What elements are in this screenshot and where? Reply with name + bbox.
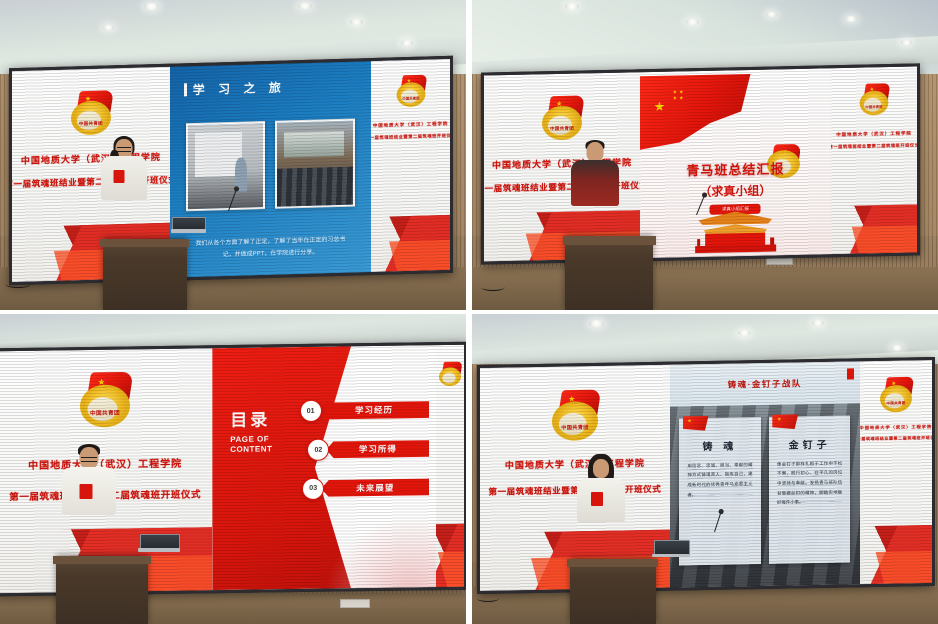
led-segment-slide-center: ★ ★★★★ ★ 青马班总结汇报 （求真小组） 求真小组汇报 (640, 68, 831, 258)
ceiling-downlight (103, 25, 114, 30)
banner-org-line: 中国地质大学（武汉）工程学院 (373, 121, 448, 129)
flag-icon: ★ (682, 415, 708, 430)
presenter-glasses (81, 457, 97, 462)
podium-top (100, 239, 189, 248)
led-segment-slide-center: 目录 PAGE OF CONTENT 01 学习经历 02 学习所得 (213, 345, 437, 590)
laptop-keyboard[interactable] (171, 229, 207, 233)
youth-league-emblem-icon: ★ 中国共青团 (858, 84, 890, 116)
ceiling-downlight (589, 320, 604, 327)
youth-league-emblem-icon: ★ 中国共青团 (549, 389, 600, 440)
toc-subtitle-line1: PAGE OF (231, 434, 270, 444)
slide-photo-meeting-room (276, 118, 356, 209)
led-segment-banner-right (436, 345, 464, 587)
toc-item-label: 未来展望 (322, 479, 430, 498)
banner-event-line: 第一届筑魂班结业暨第二届筑魂班开班仪式 (371, 132, 450, 141)
youth-league-emblem-icon: ★ 中国共青团 (878, 376, 913, 412)
tiananmen-gate-icon (692, 211, 780, 254)
slide-photo-classroom (186, 121, 266, 212)
team-card: ★ 金钉子 像金钉子那样扎根于工作中不松不懈，践行初心，在平凡的岗位中坚持与奉献… (769, 415, 850, 564)
led-segment-slide-center: 学 习 之 旅 我们从各个方面了解了正定，了解了当年在正定的习总书记，并做成PP… (170, 61, 371, 277)
toc-item-number: 02 (308, 439, 330, 461)
ceiling-downlight (350, 19, 363, 25)
panel-4-photo: ★ 中国共青团 中国地质大学（武汉）工程学院 第一届筑魂班结业暨第二届筑魂班开班… (472, 314, 938, 624)
presenter-head (593, 459, 609, 478)
podium-top (53, 556, 151, 564)
toc-item[interactable]: 03 未来展望 (303, 476, 430, 500)
banner-mountain-graphic (436, 524, 464, 587)
led-segment-slide-center: 铸魂·金钉子战队 ★ 铸 魂 用信念、忠诚、担当、奉献的精神方式铸魂育人、锻炼自… (670, 361, 860, 588)
laptop[interactable] (172, 217, 204, 233)
toc-title: 目录 (231, 405, 273, 431)
laptop[interactable] (654, 540, 688, 557)
wall-sign (340, 599, 370, 608)
flag-icon: ★ (772, 413, 798, 428)
card-title: 金钉子 (777, 435, 842, 451)
slide-card-row: ★ 铸 魂 用信念、忠诚、担当、奉献的精神方式铸魂育人、锻炼自己，建成新时代的优… (679, 415, 850, 565)
podium (570, 559, 656, 624)
banner-mountain-graphic (371, 215, 450, 272)
podium-top (563, 236, 656, 245)
slide-title-text: 学 习 之 旅 (193, 78, 286, 98)
banner-mountain-graphic (831, 204, 918, 254)
led-segment-banner-right: ★ 中国共青团 中国地质大学（武汉）工程学院 第一届筑魂班结业暨第二届筑魂班开班… (831, 67, 918, 255)
podium-top (567, 559, 658, 567)
presenter-head (587, 142, 604, 162)
slide-header: 铸魂·金钉子战队 (670, 361, 860, 407)
led-video-wall: ★ 中国共青团 中国地质大学（武汉）工程学院 第一届筑魂班结业暨第二届筑魂班开班… (481, 64, 920, 265)
youth-league-emblem-icon: ★ 中国共青团 (69, 90, 113, 135)
presenter-shirt-logo (114, 170, 125, 183)
led-segment-banner-right: ★ 中国共青团 中国地质大学（武汉）工程学院 第一届筑魂班结业暨第二届筑魂班开班… (371, 59, 450, 272)
led-segment-banner-right: ★ 中国共青团 中国地质大学（武汉）工程学院 第一届筑魂班结业暨第二届筑魂班开班… (859, 360, 931, 584)
emblem-text: 中国共青团 (878, 400, 913, 405)
laptop-keyboard[interactable] (652, 554, 690, 558)
toc-item[interactable]: 01 学习经历 (300, 398, 430, 422)
photo-collage: ★ 中国共青团 中国地质大学（武汉）工程学院 第一届筑魂班结业暨第二届筑魂班开班… (0, 0, 938, 624)
banner-org-line: 中国地质大学（武汉）工程学院 (859, 423, 931, 430)
slide-caption: 我们从各个方面了解了正定，了解了当年在正定的习总书记，并做成PPT，在学院进行分… (190, 235, 351, 262)
toc-item-label: 学习经历 (319, 401, 430, 420)
flag-big-star-icon: ★ (654, 99, 666, 115)
team-card: ★ 铸 魂 用信念、忠诚、担当、奉献的精神方式铸魂育人、锻炼自己，建成新时代的优… (679, 416, 760, 565)
slide-title-text: 铸魂·金钉子战队 (727, 377, 801, 390)
toc-swirl-graphic (313, 505, 436, 589)
header-corner-mark (847, 368, 854, 379)
toc-subtitle: PAGE OF CONTENT (231, 434, 273, 455)
youth-league-emblem-icon: ★ 中国共青团 (395, 75, 427, 108)
slide-subtitle-text: （求真小组） (640, 180, 831, 201)
podium (56, 556, 148, 624)
banner-mountain-graphic (859, 525, 931, 584)
panel-2-photo: ★ 中国共青团 中国地质大学（武汉）工程学院 第一届筑魂班结业暨第二届筑魂班开班… (472, 0, 938, 310)
panel-3-photo: ★ 中国共青团 中国地质大学（武汉）工程学院 第一届筑魂班结业暨第二届筑魂班开班… (0, 314, 466, 624)
emblem-text: 中国共青团 (69, 120, 113, 127)
card-title: 铸 魂 (687, 437, 752, 453)
banner-event-line: 第一届筑魂班结业暨第二届筑魂班开班仪式 (859, 434, 931, 442)
youth-league-emblem-icon: ★ 中国共青团 (540, 95, 584, 140)
slide-title-text: 青马班总结汇报 (640, 158, 831, 181)
led-video-wall: ★ 中国共青团 中国地质大学（武汉）工程学院 第一届筑魂班结业暨第二届筑魂班开班… (9, 56, 453, 285)
presenter-glasses (117, 147, 131, 152)
podium (103, 239, 187, 310)
title-accent-bar (184, 83, 187, 96)
laptop[interactable] (140, 534, 178, 552)
led-video-wall: ★ 中国共青团 中国地质大学（武汉）工程学院 第一届筑魂班结业暨第二届筑魂班开班… (477, 357, 935, 594)
banner-event-line: 第一届筑魂班结业暨第二届筑魂班开班仪式 (831, 143, 918, 151)
ceiling-downlight (738, 330, 751, 336)
ceiling-downlight (686, 19, 699, 25)
toc-heading: 目录 PAGE OF CONTENT (231, 405, 273, 455)
slide-title: 学 习 之 旅 (184, 78, 286, 98)
laptop-keyboard[interactable] (138, 548, 181, 552)
toc-item-number: 03 (303, 478, 325, 500)
banner-org-line: 中国地质大学（武汉）工程学院 (837, 131, 912, 139)
emblem-text: 中国共青团 (540, 125, 584, 132)
panel-1-photo: ★ 中国共青团 中国地质大学（武汉）工程学院 第一届筑魂班结业暨第二届筑魂班开班… (0, 0, 466, 310)
youth-league-emblem-icon: ★ 中国共青团 (78, 372, 133, 428)
toc-subtitle-line2: CONTENT (231, 444, 273, 454)
flag-small-stars-icon: ★★★★ (673, 89, 686, 101)
podium (565, 236, 653, 310)
emblem-text: 中国共青团 (78, 409, 133, 417)
presenter-shirt-logo (591, 492, 603, 506)
slide-photo-row (186, 118, 355, 211)
presenter-torso (571, 160, 619, 206)
toc-item-list: 01 学习经历 02 学习所得 03 未来展望 (300, 398, 430, 516)
national-flag-graphic: ★ ★★★★ (640, 74, 751, 155)
floor (472, 267, 938, 310)
emblem-text: 中国共青团 (549, 423, 600, 431)
card-body: 用信念、忠诚、担当、奉献的精神方式铸魂育人、锻炼自己，建成新时代的优秀青年马克思… (687, 459, 752, 499)
presenter-shirt-logo (80, 484, 93, 499)
youth-league-emblem-icon (438, 362, 462, 387)
toc-item[interactable]: 02 学习所得 (308, 437, 430, 461)
toc-item-number: 01 (300, 400, 322, 422)
toc-item-label: 学习所得 (327, 440, 430, 458)
card-body: 像金钉子那样扎根于工作中不松不懈，践行初心，在平凡的岗位中坚持与奉献。发扬青马班… (777, 458, 842, 508)
ceiling-downlight (845, 16, 857, 22)
